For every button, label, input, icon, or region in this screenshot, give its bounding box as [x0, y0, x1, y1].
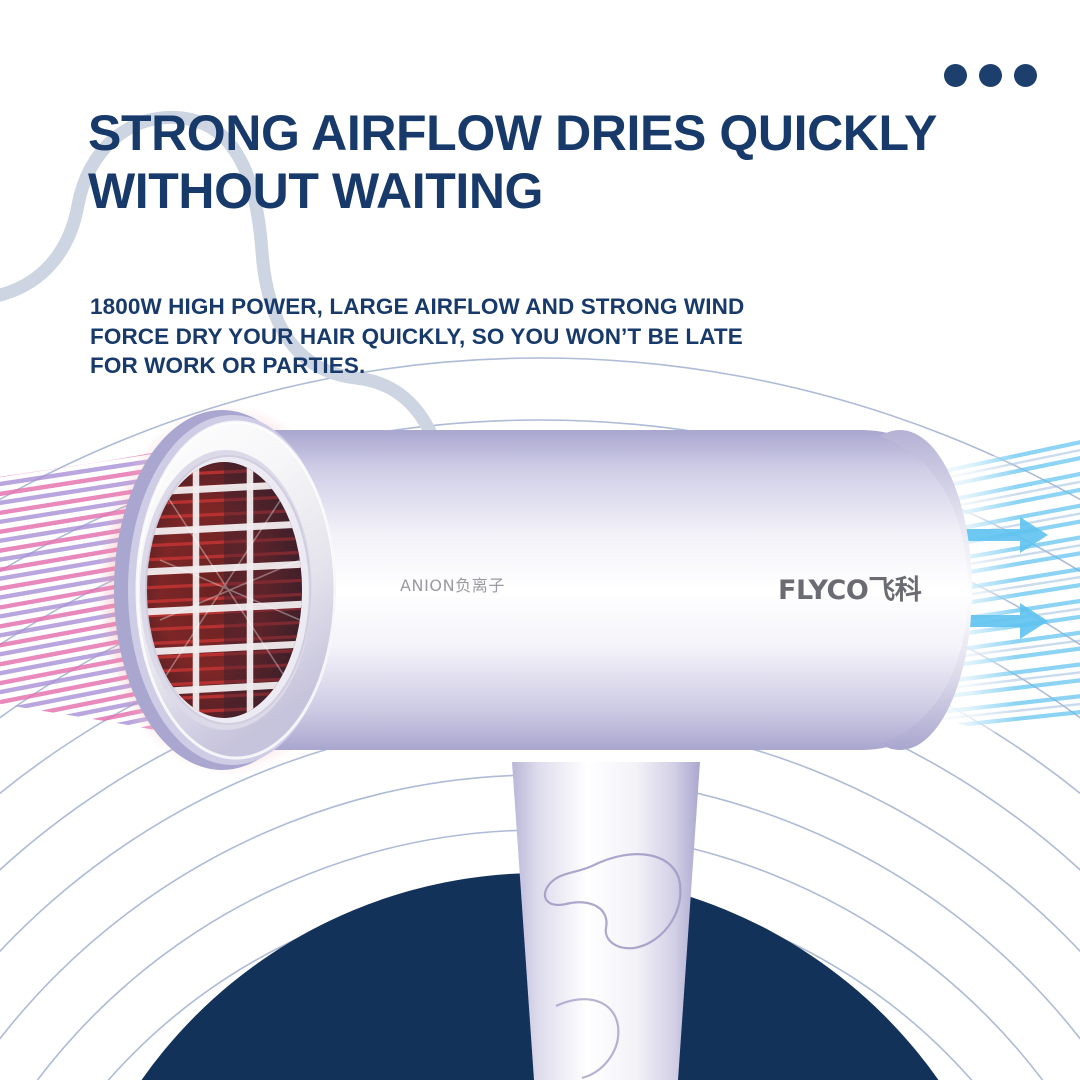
decorative-dots	[944, 64, 1037, 87]
dot-1	[944, 64, 967, 87]
dryer-handle	[512, 762, 700, 1080]
page-title: STRONG AIRFLOW DRIES QUICKLY WITHOUT WAI…	[88, 104, 988, 220]
body-copy: 1800W HIGH POWER, LARGE AIRFLOW AND STRO…	[90, 292, 870, 381]
dot-3	[1014, 64, 1037, 87]
dot-2	[979, 64, 1002, 87]
dryer-nozzle	[114, 410, 336, 770]
poster-canvas: STRONG AIRFLOW DRIES QUICKLY WITHOUT WAI…	[0, 0, 1080, 1080]
anion-feature-label: ANION负离子	[400, 572, 505, 596]
brand-logo-label: FLYCO飞科	[778, 568, 921, 607]
